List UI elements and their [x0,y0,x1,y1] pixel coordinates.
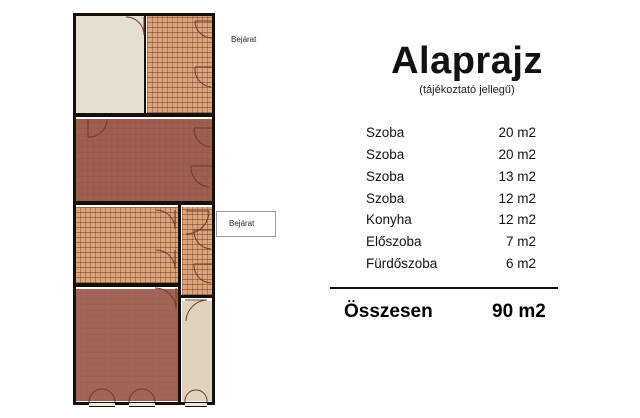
wall-outer-left [73,13,76,405]
table-row: Fürdőszoba 6 m2 [366,253,566,275]
table-row: Szoba 20 m2 [366,122,566,144]
room-area: 13 m2 [474,166,536,188]
room-name: Konyha [366,209,474,231]
door-top-right-upper [191,19,213,43]
table-row: Szoba 12 m2 [366,188,566,210]
wall-v-hall-left [178,205,181,301]
floor-plan [73,13,215,405]
door-lower-left-mid [153,249,177,275]
info-panel: Alaprajz (tájékoztató jellegű) Szoba 20 … [322,26,612,356]
screenshot-root: Bejárat Bejárat Alaprajz (tájékoztató je… [0,0,640,418]
total-area: 90 m2 [492,301,592,323]
table-row: Szoba 13 m2 [366,166,566,188]
door-middle-room-left [87,119,111,141]
wall-h-top-middle [75,113,213,117]
room-name: Szoba [366,166,474,188]
total-divider [330,287,558,289]
door-bottom-large-room [149,287,177,313]
door-bottom-right-room [183,299,211,325]
door-hall-right-lower [189,263,213,289]
room-area: 7 m2 [474,231,536,253]
room-area: 20 m2 [474,144,536,166]
door-middle-right-lower [185,165,213,193]
door-top-left-room [125,17,149,39]
room-schedule: Szoba 20 m2 Szoba 20 m2 Szoba 13 m2 Szob… [366,122,566,275]
entrance-door-arc [185,210,213,236]
room-name: Fürdőszoba [366,253,474,275]
door-middle-right-upper [189,127,213,153]
room-area: 12 m2 [474,209,536,231]
window-arc-1 [87,383,117,403]
entrance-label-middle: Bejárat [229,219,254,228]
wall-h-hall-bottom [178,295,213,298]
wall-v-bottom-right [178,298,181,402]
entrance-label-top: Bejárat [231,35,256,44]
room-name: Szoba [366,188,474,210]
door-top-right-lower [191,65,213,93]
page-title: Alaprajz [322,42,612,80]
window-arc-2 [127,383,157,403]
room-name: Szoba [366,144,474,166]
page-subtitle: (tájékoztató jellegű) [322,84,612,96]
window-arc-3 [183,383,209,403]
room-name: Szoba [366,122,474,144]
room-area: 12 m2 [474,188,536,210]
total-label: Összesen [344,301,492,323]
door-lower-left-upper [153,209,177,235]
room-name: Előszoba [366,231,474,253]
table-row: Konyha 12 m2 [366,209,566,231]
total-row: Összesen 90 m2 [344,301,594,323]
table-row: Előszoba 7 m2 [366,231,566,253]
table-row: Szoba 20 m2 [366,144,566,166]
room-area: 20 m2 [474,122,536,144]
room-area: 6 m2 [474,253,536,275]
wall-h-middle-lower [75,201,213,205]
